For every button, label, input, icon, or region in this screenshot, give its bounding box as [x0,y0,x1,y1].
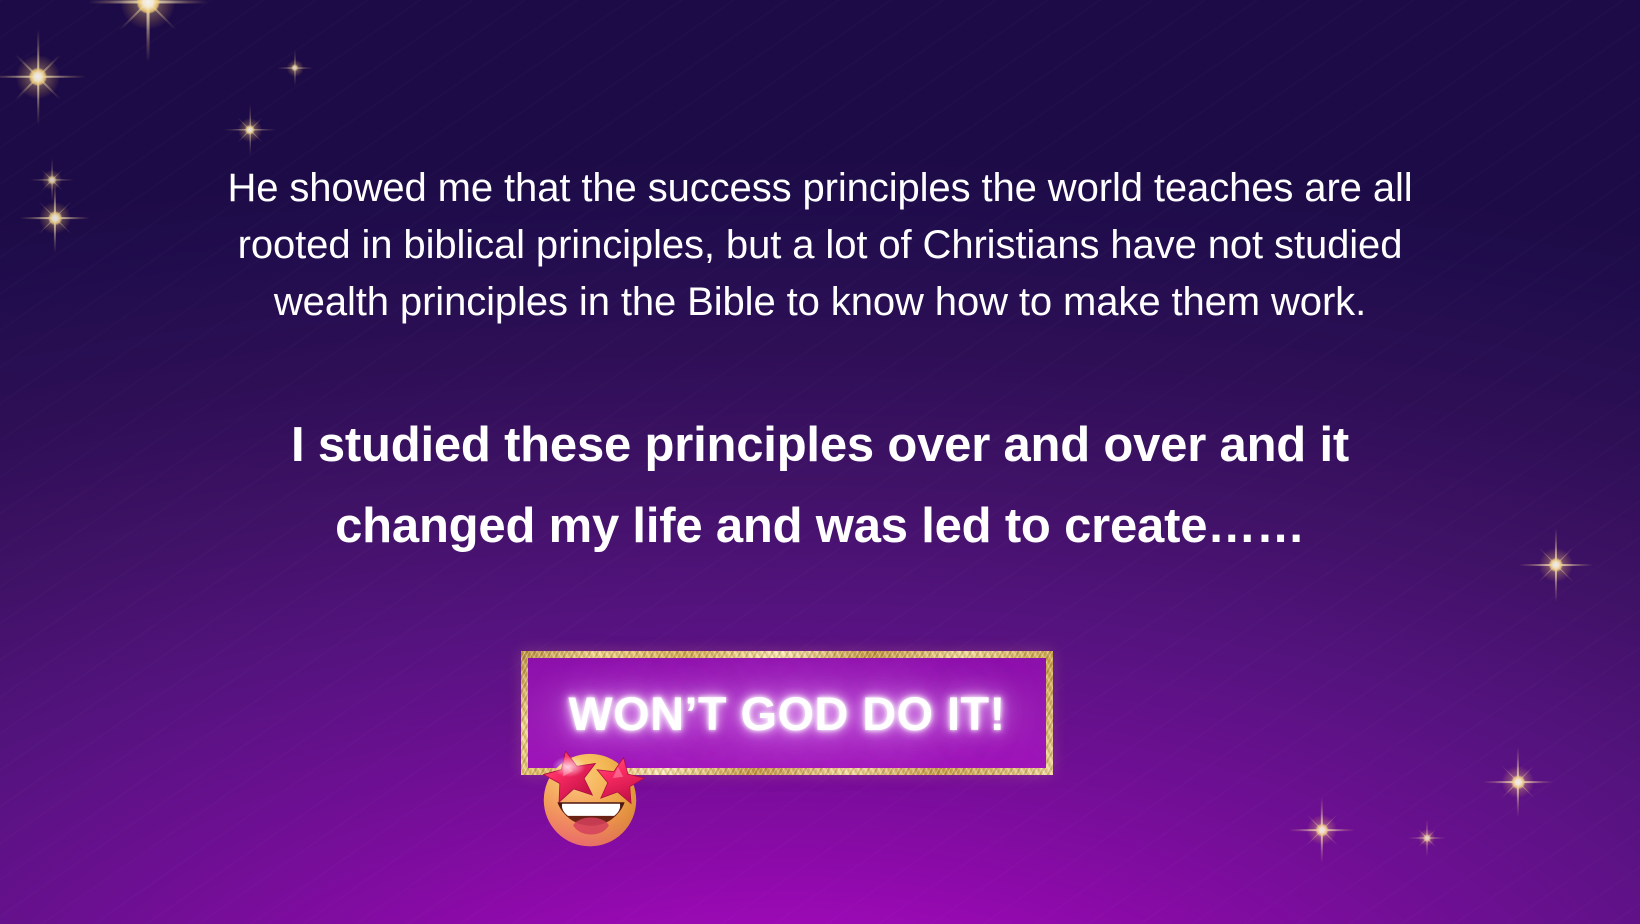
sparkle-top-right-small-icon [277,50,313,86]
paragraph-line-3: wealth principles in the Bible to know h… [110,274,1530,331]
paragraph-line-1: He showed me that the success principles… [110,160,1530,217]
headline-line-1: I studied these principles over and over… [70,405,1570,486]
emoji-mouth [557,802,624,826]
slide-canvas: He showed me that the success principles… [0,0,1640,924]
paragraph-line-2: rooted in biblical principles, but a lot… [110,217,1530,274]
sparkle-top-center-left-icon [88,0,208,62]
headline-block: I studied these principles over and over… [70,405,1570,567]
emoji-teeth [562,804,620,816]
sparkle-bottom-right-b-icon [1408,819,1446,857]
sparkle-bottom-left-icon [20,183,90,253]
sparkle-right-low-icon [1483,747,1553,817]
banner-text: WON’T GOD DO IT! [568,686,1005,741]
paragraph-block: He showed me that the success principles… [110,160,1530,331]
sparkle-bottom-right-a-icon [1289,797,1355,863]
wont-god-do-it-banner: WON’T GOD DO IT! [521,651,1053,775]
headline-line-2: changed my life and was led to create…… [70,486,1570,567]
sparkle-top-left-icon [0,29,86,125]
sparkle-upper-mid-icon [224,104,276,156]
banner-panel: WON’T GOD DO IT! [528,658,1046,768]
sparkle-left-mid-icon [30,158,74,202]
